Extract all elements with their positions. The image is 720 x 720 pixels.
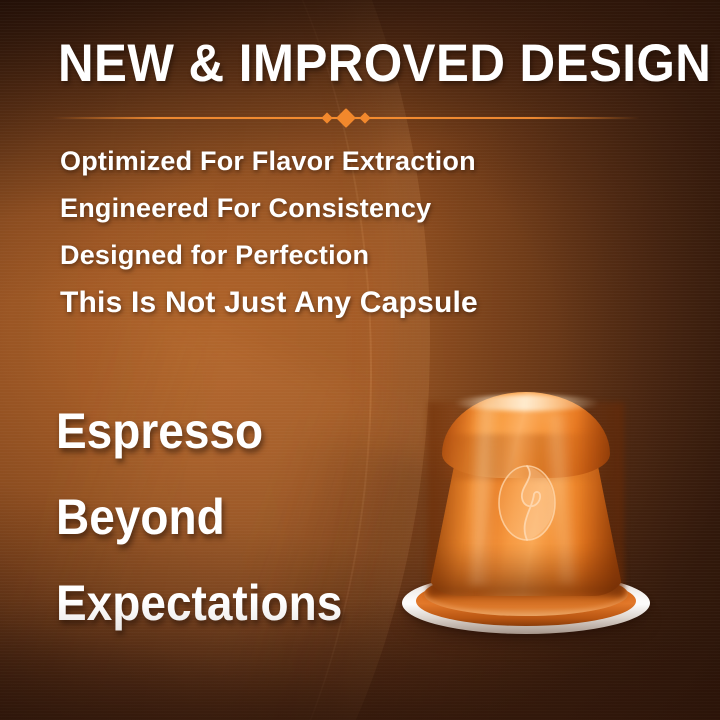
page-title: NEW & IMPROVED DESIGN — [58, 36, 625, 92]
poster-content: NEW & IMPROVED DESIGN Optimized For Flav… — [0, 0, 720, 720]
coffee-capsule — [380, 386, 670, 656]
coffee-bean-emblem-icon — [496, 464, 558, 542]
promo-poster: NEW & IMPROVED DESIGN Optimized For Flav… — [0, 0, 720, 720]
diamond-small-left-icon — [321, 112, 332, 123]
capsule-top-highlight — [454, 395, 600, 411]
feature-list: Optimized For Flavor Extraction Engineer… — [60, 138, 660, 326]
feature-item: Engineered For Consistency — [60, 185, 660, 232]
feature-item: Designed for Perfection — [60, 232, 660, 279]
capsule-shade-bottom — [430, 544, 622, 596]
feature-item: This Is Not Just Any Capsule — [60, 279, 660, 326]
ornamental-divider — [52, 110, 640, 126]
diamond-large-icon — [336, 108, 356, 128]
feature-item: Optimized For Flavor Extraction — [60, 138, 660, 185]
diamond-small-right-icon — [359, 112, 370, 123]
